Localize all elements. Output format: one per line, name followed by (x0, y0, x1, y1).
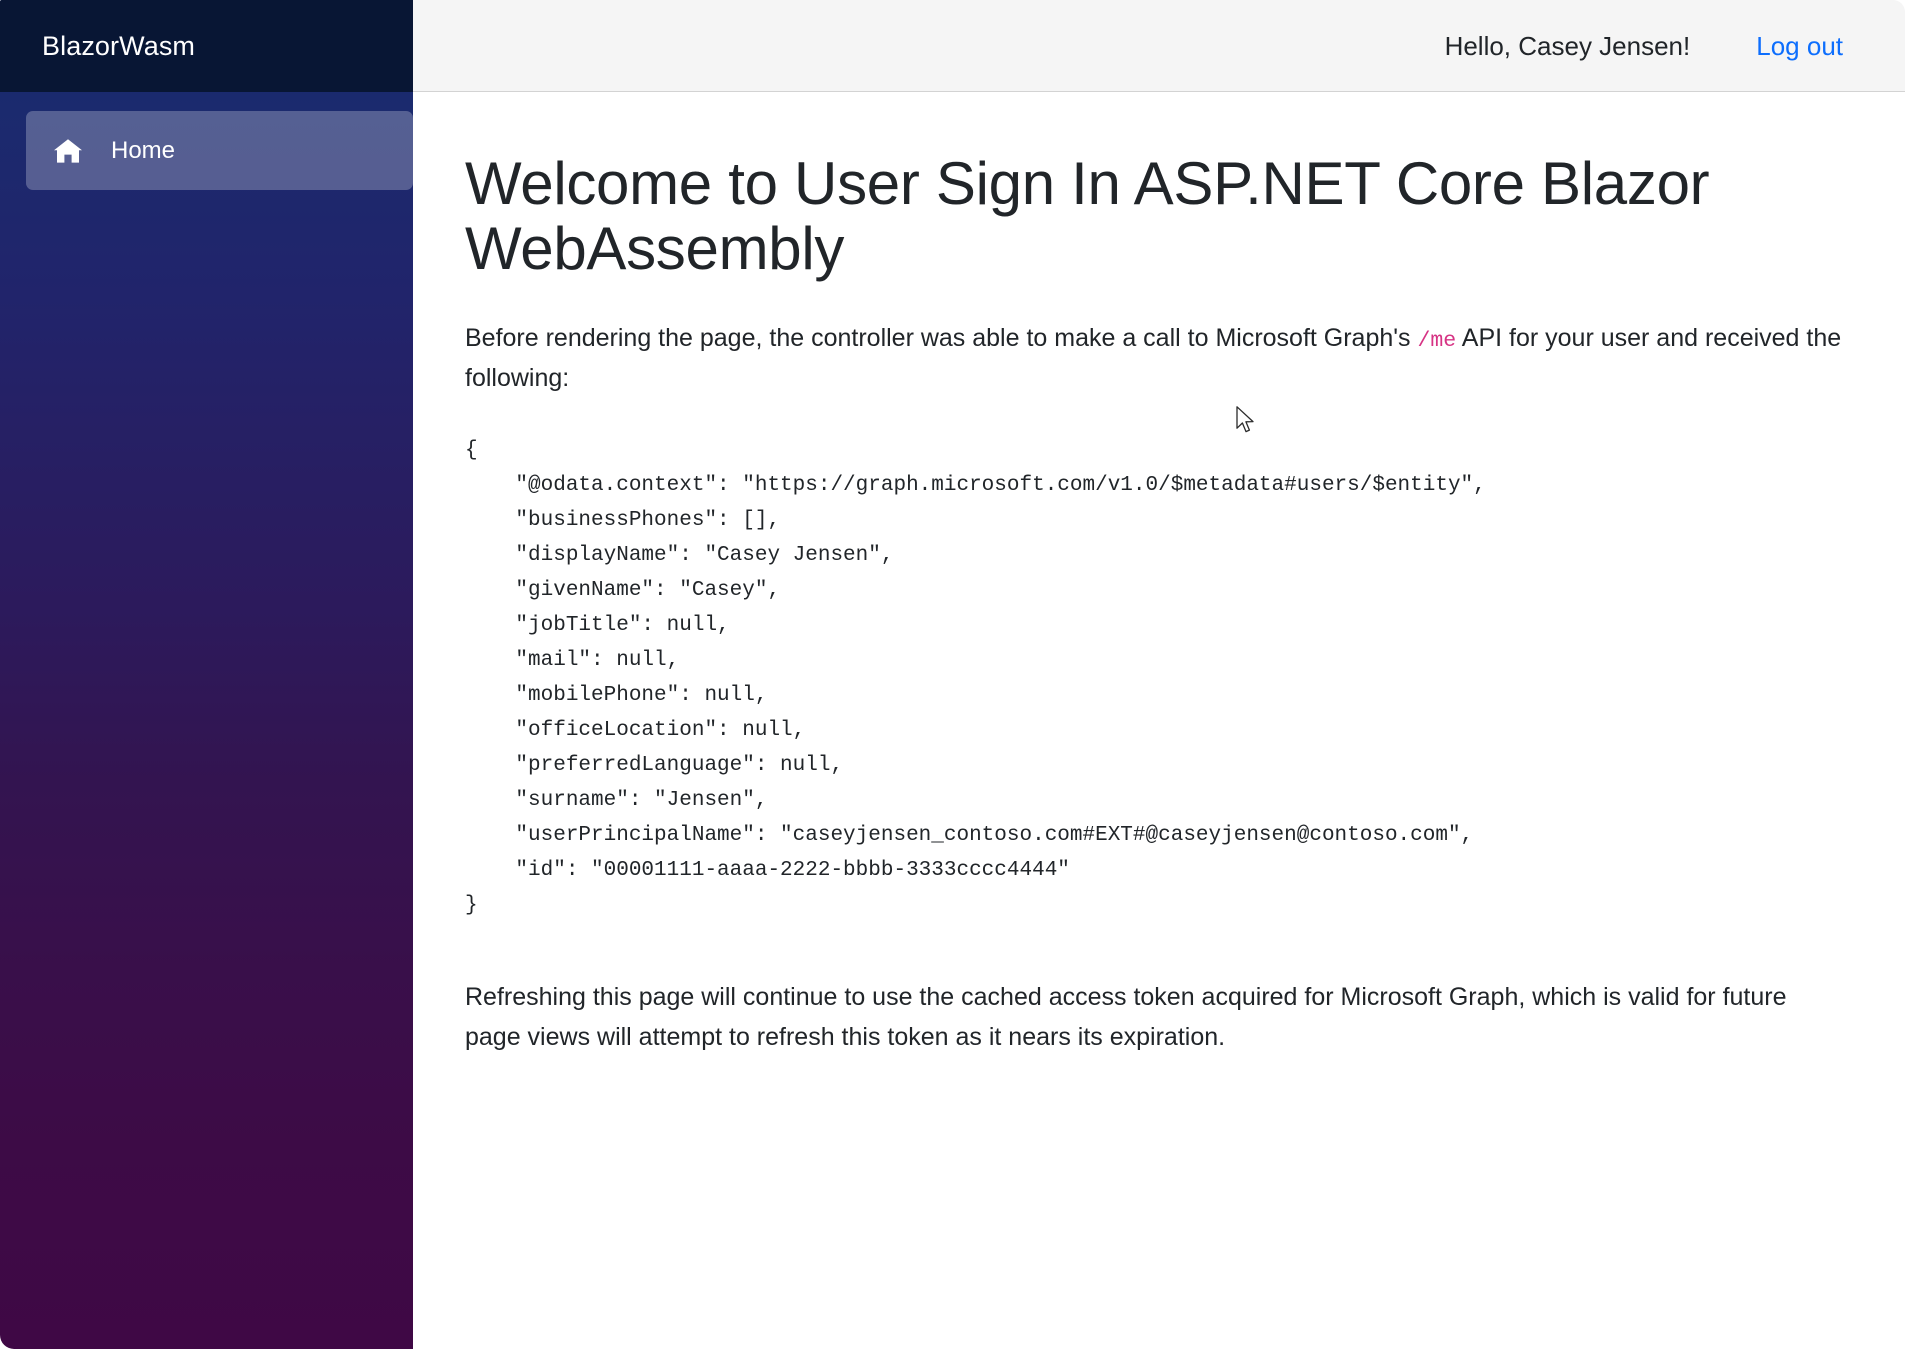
sidebar-item-home[interactable]: Home (26, 111, 413, 190)
intro-paragraph: Before rendering the page, the controlle… (465, 318, 1845, 399)
me-endpoint-code: /me (1418, 329, 1457, 353)
page-content: Welcome to User Sign In ASP.NET Core Bla… (413, 92, 1905, 1349)
sidebar-item-home-label: Home (111, 139, 175, 163)
home-icon (53, 137, 83, 165)
sidebar-nav: Home (0, 92, 413, 190)
logout-link[interactable]: Log out (1756, 33, 1843, 59)
user-greeting: Hello, Casey Jensen! (1445, 33, 1691, 59)
page-title: Welcome to User Sign In ASP.NET Core Bla… (465, 152, 1835, 282)
closing-paragraph: Refreshing this page will continue to us… (465, 977, 1845, 1058)
sidebar-brand-bar: BlazorWasm (0, 0, 413, 92)
graph-response-code-block: { "@odata.context": "https://graph.micro… (465, 433, 1845, 923)
top-bar: Hello, Casey Jensen! Log out (413, 0, 1905, 92)
app-brand-title[interactable]: BlazorWasm (42, 33, 195, 60)
app-root: BlazorWasm Home Hello, Casey Jensen! Log… (0, 0, 1905, 1349)
sidebar: BlazorWasm Home (0, 0, 413, 1349)
main-column: Hello, Casey Jensen! Log out Welcome to … (413, 0, 1905, 1349)
intro-text-part1: Before rendering the page, the controlle… (465, 324, 1418, 352)
